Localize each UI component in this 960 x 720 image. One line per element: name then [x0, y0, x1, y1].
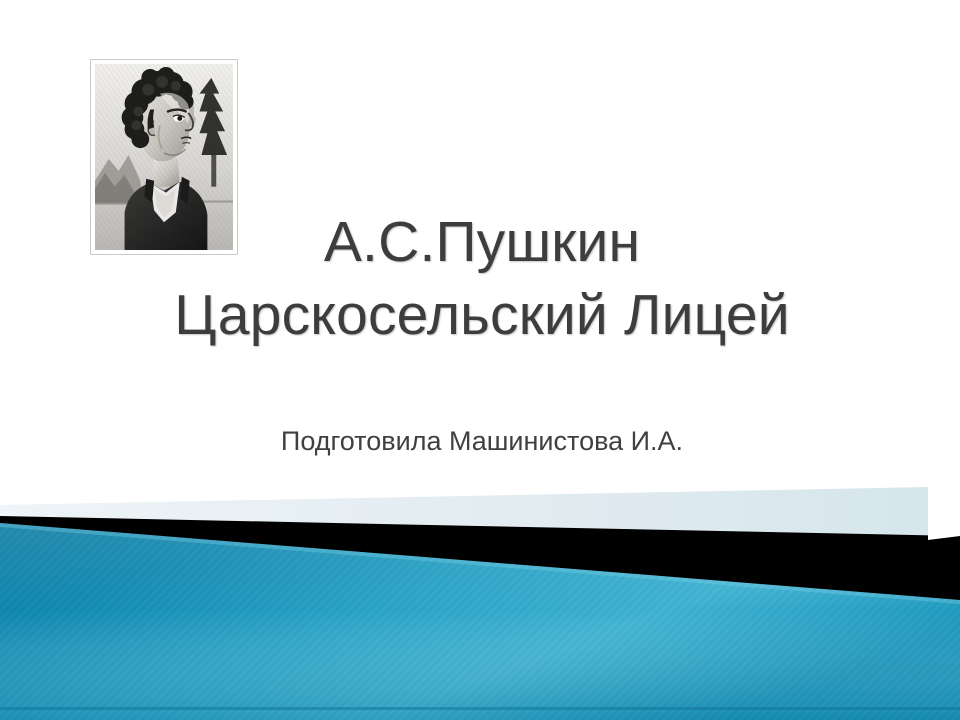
title-line-1: А.С.Пушкин	[40, 206, 924, 279]
slide-subtitle[interactable]: Подготовила Машинистова И.А.	[40, 424, 924, 458]
title-line-2: Царскосельский Лицей	[40, 279, 924, 352]
presentation-slide: А.С.Пушкин Царскосельский Лицей Подготов…	[0, 0, 960, 720]
slide-title[interactable]: А.С.Пушкин Царскосельский Лицей	[40, 206, 924, 352]
subtitle-author-text: Подготовила Машинистова И.А.	[40, 424, 924, 458]
